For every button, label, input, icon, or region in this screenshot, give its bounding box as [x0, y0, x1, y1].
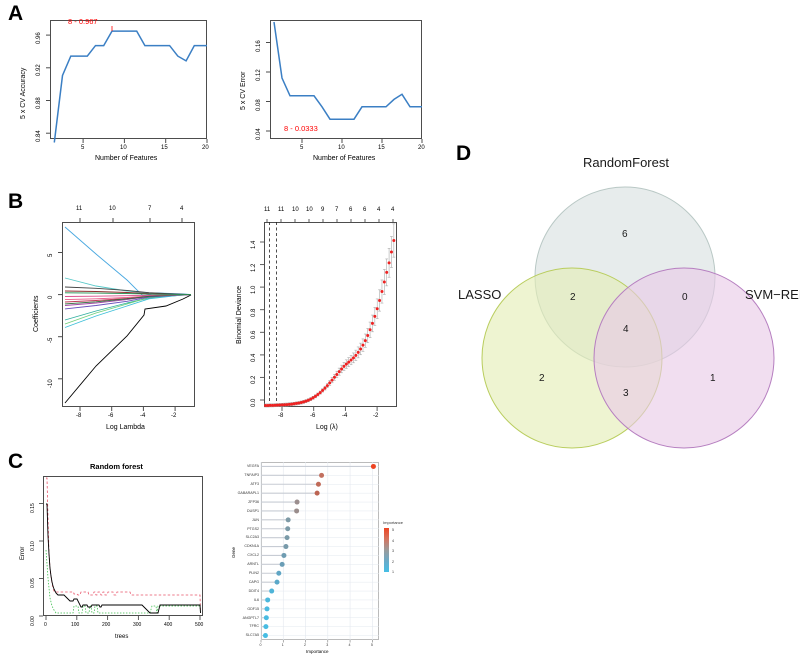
panel-b-right-toptick-3: 10 — [306, 207, 313, 213]
panel-b-right-xtick-1: -6 — [310, 413, 315, 419]
gene-label: TFRC — [249, 624, 259, 628]
legend-tick: 1 — [392, 570, 394, 574]
panel-b-left-toptick-1: 10 — [109, 206, 116, 212]
panel-b-left-xlabel: Log Lambda — [106, 424, 145, 431]
panel-b-right-xtick-0: -8 — [278, 413, 283, 419]
panel-c-left-xtick-4: 400 — [164, 622, 172, 628]
panel-b-right-plot: 11 11 10 10 9 7 6 6 4 4 0.0 0.2 0.4 0.6 … — [220, 192, 435, 442]
gene-label: IL6 — [254, 598, 259, 602]
panel-a-left-ytick-2: 0.92 — [36, 64, 42, 76]
panel-b-right-toptick-6: 6 — [349, 207, 352, 213]
gene-label: VEGFA — [247, 464, 259, 468]
panel-b-left-toptick-0: 11 — [76, 206, 82, 212]
venn-count-all-three: 4 — [623, 324, 629, 335]
panel-c-left-xtick-1: 100 — [71, 622, 79, 628]
importance-tick: 3 — [326, 643, 328, 647]
panel-b-right-toptick-2: 10 — [292, 207, 299, 213]
panel-b-left-plot: 11 10 7 4 -10 -5 0 5 -8 -6 -4 -2 Coeffic… — [10, 192, 225, 442]
panel-b-left-xtick-0: -8 — [76, 413, 81, 419]
panel-b-right-toptick-9: 4 — [391, 207, 394, 213]
panel-a-right-xtick-0: 5 — [300, 145, 303, 151]
venn-label-lasso: LASSO — [458, 287, 501, 302]
panel-b-right-toptick-0: 11 — [264, 207, 270, 213]
gene-label: SLC2A3 — [246, 535, 259, 539]
gene-label: ANGPTL7 — [243, 616, 259, 620]
importance-tick: 0 — [260, 643, 262, 647]
gene-label: ZFP36 — [248, 500, 259, 504]
gene-label: PTGS2 — [247, 527, 259, 531]
panel-b-right-xlabel: Log (λ) — [316, 424, 338, 431]
panel-b-right-xtick-2: -4 — [342, 413, 347, 419]
importance-tick: 4 — [349, 643, 351, 647]
panel-a-left-xtick-0: 5 — [81, 145, 84, 151]
panel-c-right-plot: VEGFATNFAIP3ATF3GABARAPL1ZFP36DUSP1JUNPT… — [228, 458, 428, 658]
panel-c-left-ytick-1: 0.05 — [30, 578, 36, 588]
panel-a-left-plot: 0.84 0.88 0.92 0.96 5 10 15 20 5 x CV Ac… — [10, 14, 215, 169]
panel-b-right-ytick-3: 0.6 — [251, 331, 257, 339]
panel-b-right-ytick-2: 0.4 — [251, 354, 257, 362]
panel-a-right-ytick-0: 0.04 — [256, 128, 262, 140]
panel-b-left-ytick-0: -10 — [48, 379, 54, 388]
venn-label-randomforest: RandomForest — [583, 155, 669, 170]
panel-b-right-ytick-4: 0.8 — [251, 309, 257, 317]
panel-a-left-xtick-1: 10 — [120, 145, 127, 151]
venn-count-rf-only: 6 — [622, 229, 628, 240]
panel-a-left-annotation: 8 - 0.967 — [68, 17, 98, 26]
venn-count-svm-only: 1 — [710, 373, 716, 384]
panel-b-left-ytick-3: 5 — [48, 254, 54, 257]
gene-label: ARNTL — [247, 562, 259, 566]
panel-c-right-ylabel: Gene — [231, 547, 236, 558]
legend-tick: 4 — [392, 539, 394, 543]
panel-b-right-toptick-8: 4 — [377, 207, 380, 213]
gene-label: CAPG — [249, 580, 259, 584]
panel-a-right-ytick-2: 0.12 — [256, 69, 262, 81]
gene-label: GABARAPL1 — [238, 491, 259, 495]
panel-c-left-ytick-2: 0.10 — [30, 541, 36, 551]
panel-b-left-ytick-2: 0 — [48, 296, 54, 299]
gene-label: CDKN1A — [244, 544, 259, 548]
panel-b-left-xtick-2: -4 — [140, 413, 145, 419]
panel-c-left-ytick-3: 0.15 — [30, 503, 36, 513]
venn-count-rf-svm: 0 — [682, 292, 688, 303]
panel-a-right-ytick-3: 0.16 — [256, 40, 262, 52]
panel-c-left-ylabel: Error — [20, 547, 26, 560]
panel-a-right-xlabel: Number of Features — [313, 155, 375, 162]
venn-label-svm: SVM−REF — [745, 287, 800, 302]
importance-colorbar — [384, 528, 389, 572]
importance-tick: 2 — [304, 643, 306, 647]
panel-b-right-xtick-3: -2 — [373, 413, 378, 419]
panel-b-left-xtick-3: -2 — [171, 413, 176, 419]
panel-c-left-xtick-2: 200 — [102, 622, 110, 628]
importance-tick: 5 — [371, 643, 373, 647]
gene-label: CXCL2 — [247, 553, 259, 557]
gene-label: SLC7A5 — [246, 633, 259, 637]
panel-a-left-ytick-3: 0.96 — [36, 32, 42, 44]
panel-b-right-ytick-6: 1.2 — [251, 264, 257, 272]
panel-c-left-plot: Random forest 0.00 0.05 0.10 0.15 0 100 … — [10, 458, 225, 658]
panel-b-left-ytick-1: -5 — [48, 338, 54, 343]
panel-b-right-ylabel: Binomial Deviance — [236, 286, 243, 344]
panel-a-right-ylabel: 5 x CV Error — [240, 71, 247, 110]
panel-a-right-xtick-1: 10 — [338, 145, 345, 151]
venn-count-lasso-only: 2 — [539, 373, 545, 384]
panel-c-left-xlabel: trees — [115, 634, 128, 640]
panel-a-left-xtick-2: 15 — [161, 145, 168, 151]
panel-a-right-plot: 0.04 0.08 0.12 0.16 5 10 15 20 5 x CV Er… — [228, 14, 428, 169]
panel-c-left-xtick-3: 300 — [133, 622, 141, 628]
legend-tick: 3 — [392, 549, 394, 553]
panel-a-left-ylabel: 5 x CV Accuracy — [20, 68, 27, 119]
panel-a-right-xtick-3: 20 — [418, 145, 425, 151]
panel-c-left-xtick-5: 500 — [195, 622, 203, 628]
gene-label: DUSP1 — [247, 509, 259, 513]
panel-b-left-xtick-1: -6 — [108, 413, 113, 419]
panel-b-right-toptick-7: 6 — [363, 207, 366, 213]
importance-tick: 1 — [282, 643, 284, 647]
panel-d-venn-diagram: RandomForest LASSO SVM−REF 6 2 0 4 2 1 3 — [440, 130, 800, 460]
gene-label: PLIN2 — [249, 571, 259, 575]
panel-a-left-ytick-0: 0.84 — [36, 130, 42, 142]
panel-a-right-xtick-2: 15 — [378, 145, 385, 151]
panel-c-left-ytick-0: 0.00 — [30, 616, 36, 626]
panel-b-right-ytick-5: 1.0 — [251, 286, 257, 294]
gene-label: GDF15 — [247, 607, 259, 611]
panel-a-left-series — [54, 31, 207, 142]
panel-b-right-toptick-1: 11 — [278, 207, 284, 213]
panel-a-right-ytick-1: 0.08 — [256, 99, 262, 111]
panel-a-left-xtick-3: 20 — [202, 145, 209, 151]
panel-b-right-toptick-5: 7 — [335, 207, 338, 213]
gene-label: TNFAIP3 — [244, 473, 259, 477]
legend-tick: 5 — [392, 528, 394, 532]
panel-b-right-toptick-4: 9 — [321, 207, 324, 213]
panel-b-right-ytick-7: 1.4 — [251, 241, 257, 249]
panel-a-left-xlabel: Number of Features — [95, 155, 157, 162]
panel-a-right-annotation: 8 - 0.0333 — [284, 124, 318, 133]
gene-label: ATF3 — [250, 482, 259, 486]
venn-count-lasso-svm: 3 — [623, 388, 629, 399]
venn-count-rf-lasso: 2 — [570, 292, 576, 303]
panel-b-left-toptick-3: 4 — [180, 206, 183, 212]
panel-a-left-ytick-1: 0.88 — [36, 97, 42, 109]
panel-b-left-ylabel: Coefficients — [33, 296, 40, 332]
panel-b-left-toptick-2: 7 — [148, 206, 151, 212]
panel-b-right-ytick-0: 0.0 — [251, 399, 257, 407]
gene-label: DDIT4 — [249, 589, 259, 593]
panel-c-right-legend-title: Importance — [383, 520, 403, 525]
gene-label: JUN — [252, 518, 259, 522]
legend-tick: 2 — [392, 560, 394, 564]
panel-b-right-ytick-1: 0.2 — [251, 376, 257, 384]
panel-a-right-series — [274, 22, 422, 119]
panel-c-right-xlabel: Importance — [306, 649, 329, 654]
panel-c-left-xtick-0: 0 — [44, 622, 47, 628]
